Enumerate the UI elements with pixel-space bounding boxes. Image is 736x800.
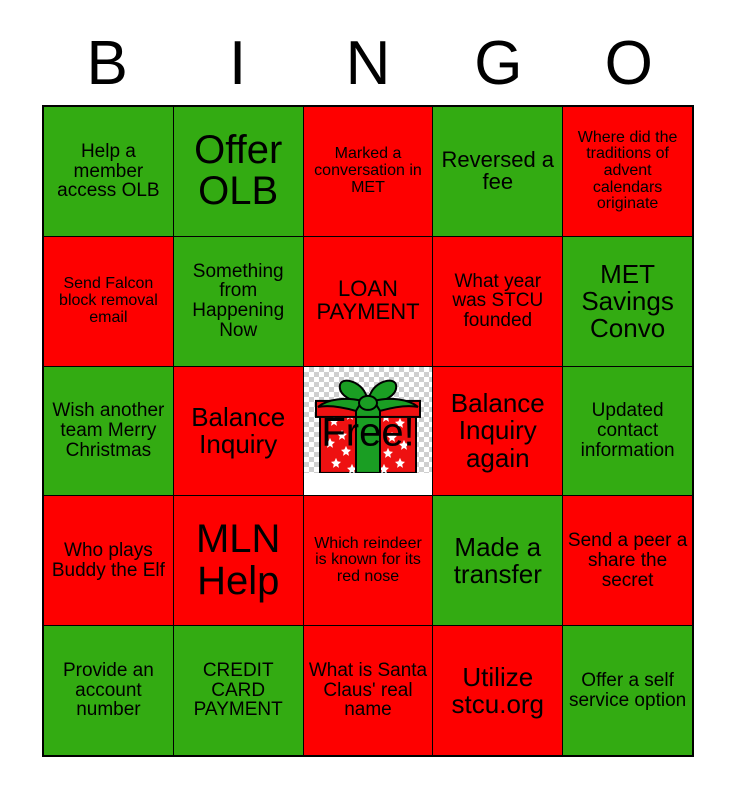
bingo-cell[interactable]: MLN Help [174,496,303,625]
bingo-cell[interactable]: CREDIT CARD PAYMENT [174,626,303,755]
bingo-header-letter-n: N [303,28,433,100]
bingo-cell[interactable]: What is Santa Claus' real name [304,626,433,755]
bingo-cell[interactable]: Made a transfer [433,496,562,625]
bingo-cell-free[interactable]: Free! [304,367,433,496]
bingo-cell-text: Send a peer a share the secret [567,531,688,590]
bingo-cell-text: Reversed a fee [437,149,558,195]
bingo-cell[interactable]: Where did the traditions of advent calen… [563,107,692,236]
bingo-cell[interactable]: Reversed a fee [433,107,562,236]
gift-box-icon [312,377,424,481]
bingo-cell[interactable]: Something from Happening Now [174,237,303,366]
bingo-card: BINGO Help a member access OLBOffer OLBM… [0,0,736,800]
bingo-cell[interactable]: Marked a conversation in MET [304,107,433,236]
bingo-cell-text: Wish another team Merry Christmas [48,401,169,460]
bingo-cell[interactable]: What year was STCU founded [433,237,562,366]
bingo-cell-text: Help a member access OLB [48,142,169,201]
bingo-cell[interactable]: Which reindeer is known for its red nose [304,496,433,625]
bingo-cell-text: Provide an account number [48,661,169,720]
bingo-cell[interactable]: Help a member access OLB [44,107,173,236]
bingo-header: BINGO [42,28,694,100]
bingo-cell-text: CREDIT CARD PAYMENT [178,661,299,720]
bingo-cell-text: Where did the traditions of advent calen… [567,130,688,213]
bingo-cell[interactable]: Provide an account number [44,626,173,755]
bingo-header-letter-b: B [42,28,172,100]
bingo-cell[interactable]: Wish another team Merry Christmas [44,367,173,496]
bingo-cell-text: Which reindeer is known for its red nose [308,536,429,586]
bingo-cell-text: Who plays Buddy the Elf [48,541,169,581]
bingo-cell[interactable]: Send Falcon block removal email [44,237,173,366]
bingo-cell[interactable]: Offer a self service option [563,626,692,755]
bingo-cell[interactable]: MET Savings Convo [563,237,692,366]
bingo-cell-text: Send Falcon block removal email [48,276,169,326]
bingo-cell[interactable]: Send a peer a share the secret [563,496,692,625]
bingo-cell[interactable]: LOAN PAYMENT [304,237,433,366]
bingo-cell[interactable]: Offer OLB [174,107,303,236]
bingo-cell-text: Updated contact information [567,401,688,460]
bingo-cell-text: Marked a conversation in MET [308,146,429,196]
free-cell-white-strip [304,473,433,495]
bingo-cell-text: Made a transfer [437,534,558,588]
bingo-cell-text: Balance Inquiry [178,404,299,458]
bingo-cell-text: What year was STCU founded [437,272,558,331]
bingo-cell-text: Offer OLB [178,130,299,213]
bingo-cell-text: MLN Help [178,519,299,602]
bingo-header-letter-g: G [433,28,563,100]
bingo-cell[interactable]: Balance Inquiry [174,367,303,496]
bingo-cell[interactable]: Who plays Buddy the Elf [44,496,173,625]
bingo-header-letter-i: I [172,28,302,100]
bingo-cell-text: Something from Happening Now [178,262,299,341]
bingo-cell-text: Offer a self service option [567,671,688,711]
bingo-header-letter-o: O [564,28,694,100]
bingo-cell-text: LOAN PAYMENT [308,278,429,324]
bingo-grid: Help a member access OLBOffer OLBMarked … [42,105,694,757]
bingo-cell-text: What is Santa Claus' real name [308,661,429,720]
bingo-cell[interactable]: Updated contact information [563,367,692,496]
bingo-cell-text: Balance Inquiry again [437,390,558,471]
bingo-cell-text: Utilize stcu.org [437,664,558,718]
bingo-cell-text: MET Savings Convo [567,261,688,342]
bingo-cell[interactable]: Utilize stcu.org [433,626,562,755]
bingo-cell[interactable]: Balance Inquiry again [433,367,562,496]
